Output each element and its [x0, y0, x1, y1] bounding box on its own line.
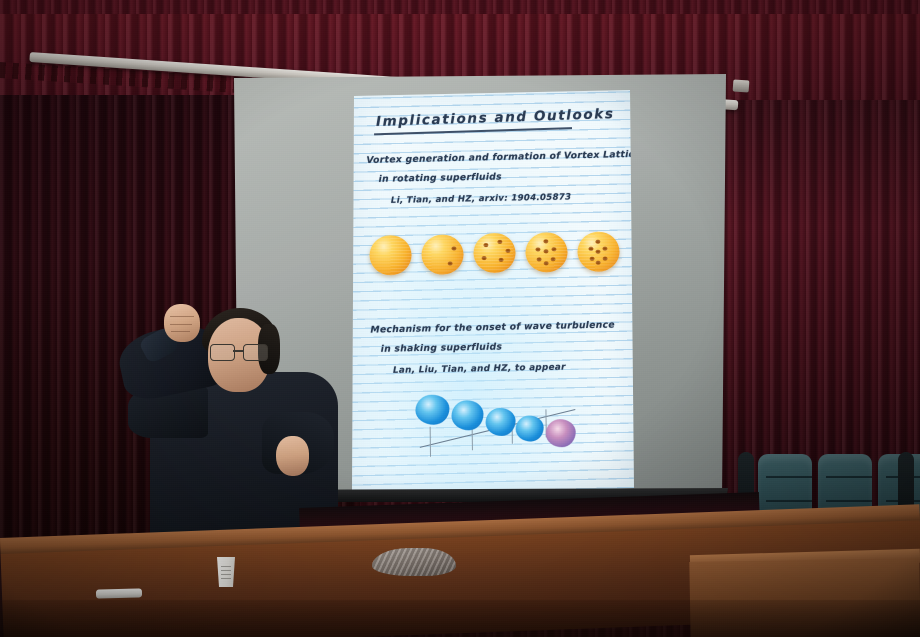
blob-4: [516, 415, 544, 441]
eyeglasses: [210, 344, 270, 360]
sphere-1: [369, 235, 411, 276]
cup-print: [221, 565, 231, 579]
blob-1: [415, 395, 449, 425]
screen-roller-end-cap: [733, 79, 750, 92]
block2-reference: Lan, Liu, Tian, and HZ, to appear: [393, 363, 566, 376]
blob-3: [485, 408, 515, 436]
blob-5: [546, 419, 576, 447]
block1-reference: Li, Tian, and HZ, arxiv: 1904.05873: [391, 192, 572, 205]
presenter-remote: [96, 588, 142, 598]
projected-slide: Implications and Outlooks Vortex generat…: [352, 90, 634, 494]
sphere-3: [473, 233, 515, 274]
slide-title: Implications and Outlooks: [376, 106, 615, 130]
blob-2: [451, 400, 483, 430]
axis-stick-1: [430, 427, 431, 457]
cloth-bag: [372, 548, 456, 576]
right-fist: [276, 436, 309, 476]
sphere-4: [525, 232, 567, 273]
block2-line1: Mechanism for the onset of wave turbulen…: [370, 319, 615, 335]
sphere-2: [421, 234, 463, 275]
lecture-photo: Implications and Outlooks Vortex generat…: [0, 0, 920, 637]
block2-line2: in shaking superfluids: [381, 341, 503, 354]
block1-line1: Vortex generation and formation of Vorte…: [366, 149, 634, 166]
block1-line2: in rotating superfluids: [379, 171, 503, 184]
vortex-lattice-sphere-sequence: [369, 228, 620, 283]
desk-front-shadow: [0, 600, 920, 637]
left-fist: [164, 304, 200, 342]
sphere-5: [577, 231, 619, 272]
wave-turbulence-blob-sequence: [413, 389, 594, 477]
